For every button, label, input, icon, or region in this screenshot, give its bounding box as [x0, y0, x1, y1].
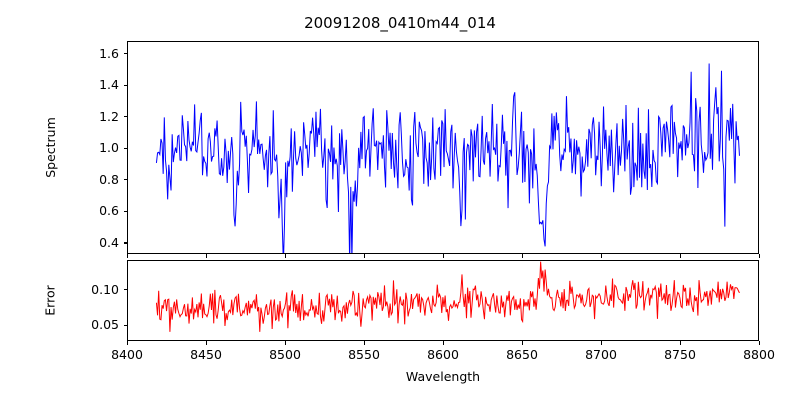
- y-tick-error: [124, 325, 128, 326]
- spectrum-plot-area[interactable]: [127, 41, 759, 254]
- x-tick: [522, 341, 523, 345]
- x-ticklabel: 8400: [97, 347, 157, 362]
- x-tick: [364, 341, 365, 345]
- x-tick-spectrum-minor: [127, 254, 128, 258]
- x-ticklabel: 8600: [413, 347, 473, 362]
- matplotlib-figure: 20091208_0410m44_014 Spectrum Error 0.40…: [0, 0, 800, 400]
- y-ticklabel-spectrum: 0.4: [75, 235, 119, 250]
- y-tick-spectrum: [124, 211, 128, 212]
- x-tick-spectrum-minor: [364, 254, 365, 258]
- x-ticklabel: 8700: [571, 347, 631, 362]
- x-tick: [206, 341, 207, 345]
- x-ticklabel: 8500: [255, 347, 315, 362]
- error-plot-area[interactable]: [127, 260, 759, 341]
- x-ticklabel: 8650: [492, 347, 552, 362]
- x-tick-spectrum-minor: [601, 254, 602, 258]
- x-tick: [127, 341, 128, 345]
- y-tick-spectrum: [124, 242, 128, 243]
- y-ticklabel-spectrum: 0.8: [75, 172, 119, 187]
- error-series: [128, 261, 759, 341]
- y-tick-spectrum: [124, 53, 128, 54]
- x-axis-label: Wavelength: [127, 369, 759, 384]
- y-ticklabel-error: 0.10: [75, 282, 119, 297]
- y-ticklabel-error: 0.05: [75, 317, 119, 332]
- y-tick-spectrum: [124, 85, 128, 86]
- y-ticklabel-spectrum: 1.6: [75, 46, 119, 61]
- y-tick-error: [124, 289, 128, 290]
- x-tick-spectrum-minor: [206, 254, 207, 258]
- y-ticklabel-spectrum: 1.2: [75, 109, 119, 124]
- x-ticklabel: 8750: [650, 347, 710, 362]
- x-tick: [680, 341, 681, 345]
- x-tick-spectrum-minor: [285, 254, 286, 258]
- x-tick: [759, 341, 760, 345]
- y-ticklabel-spectrum: 0.6: [75, 203, 119, 218]
- x-tick: [601, 341, 602, 345]
- spectrum-series: [128, 42, 759, 254]
- y-axis-label-spectrum: Spectrum: [42, 117, 57, 178]
- x-ticklabel: 8450: [176, 347, 236, 362]
- y-ticklabel-spectrum: 1.0: [75, 140, 119, 155]
- x-tick-spectrum-minor: [522, 254, 523, 258]
- y-tick-spectrum: [124, 148, 128, 149]
- y-tick-spectrum: [124, 116, 128, 117]
- y-ticklabel-spectrum: 1.4: [75, 77, 119, 92]
- x-ticklabel: 8800: [729, 347, 789, 362]
- x-tick-spectrum-minor: [680, 254, 681, 258]
- x-tick: [285, 341, 286, 345]
- x-ticklabel: 8550: [334, 347, 394, 362]
- x-tick-spectrum-minor: [759, 254, 760, 258]
- y-axis-label-error: Error: [43, 285, 58, 315]
- y-tick-spectrum: [124, 179, 128, 180]
- x-tick: [443, 341, 444, 345]
- figure-title: 20091208_0410m44_014: [0, 14, 800, 32]
- x-tick-spectrum-minor: [443, 254, 444, 258]
